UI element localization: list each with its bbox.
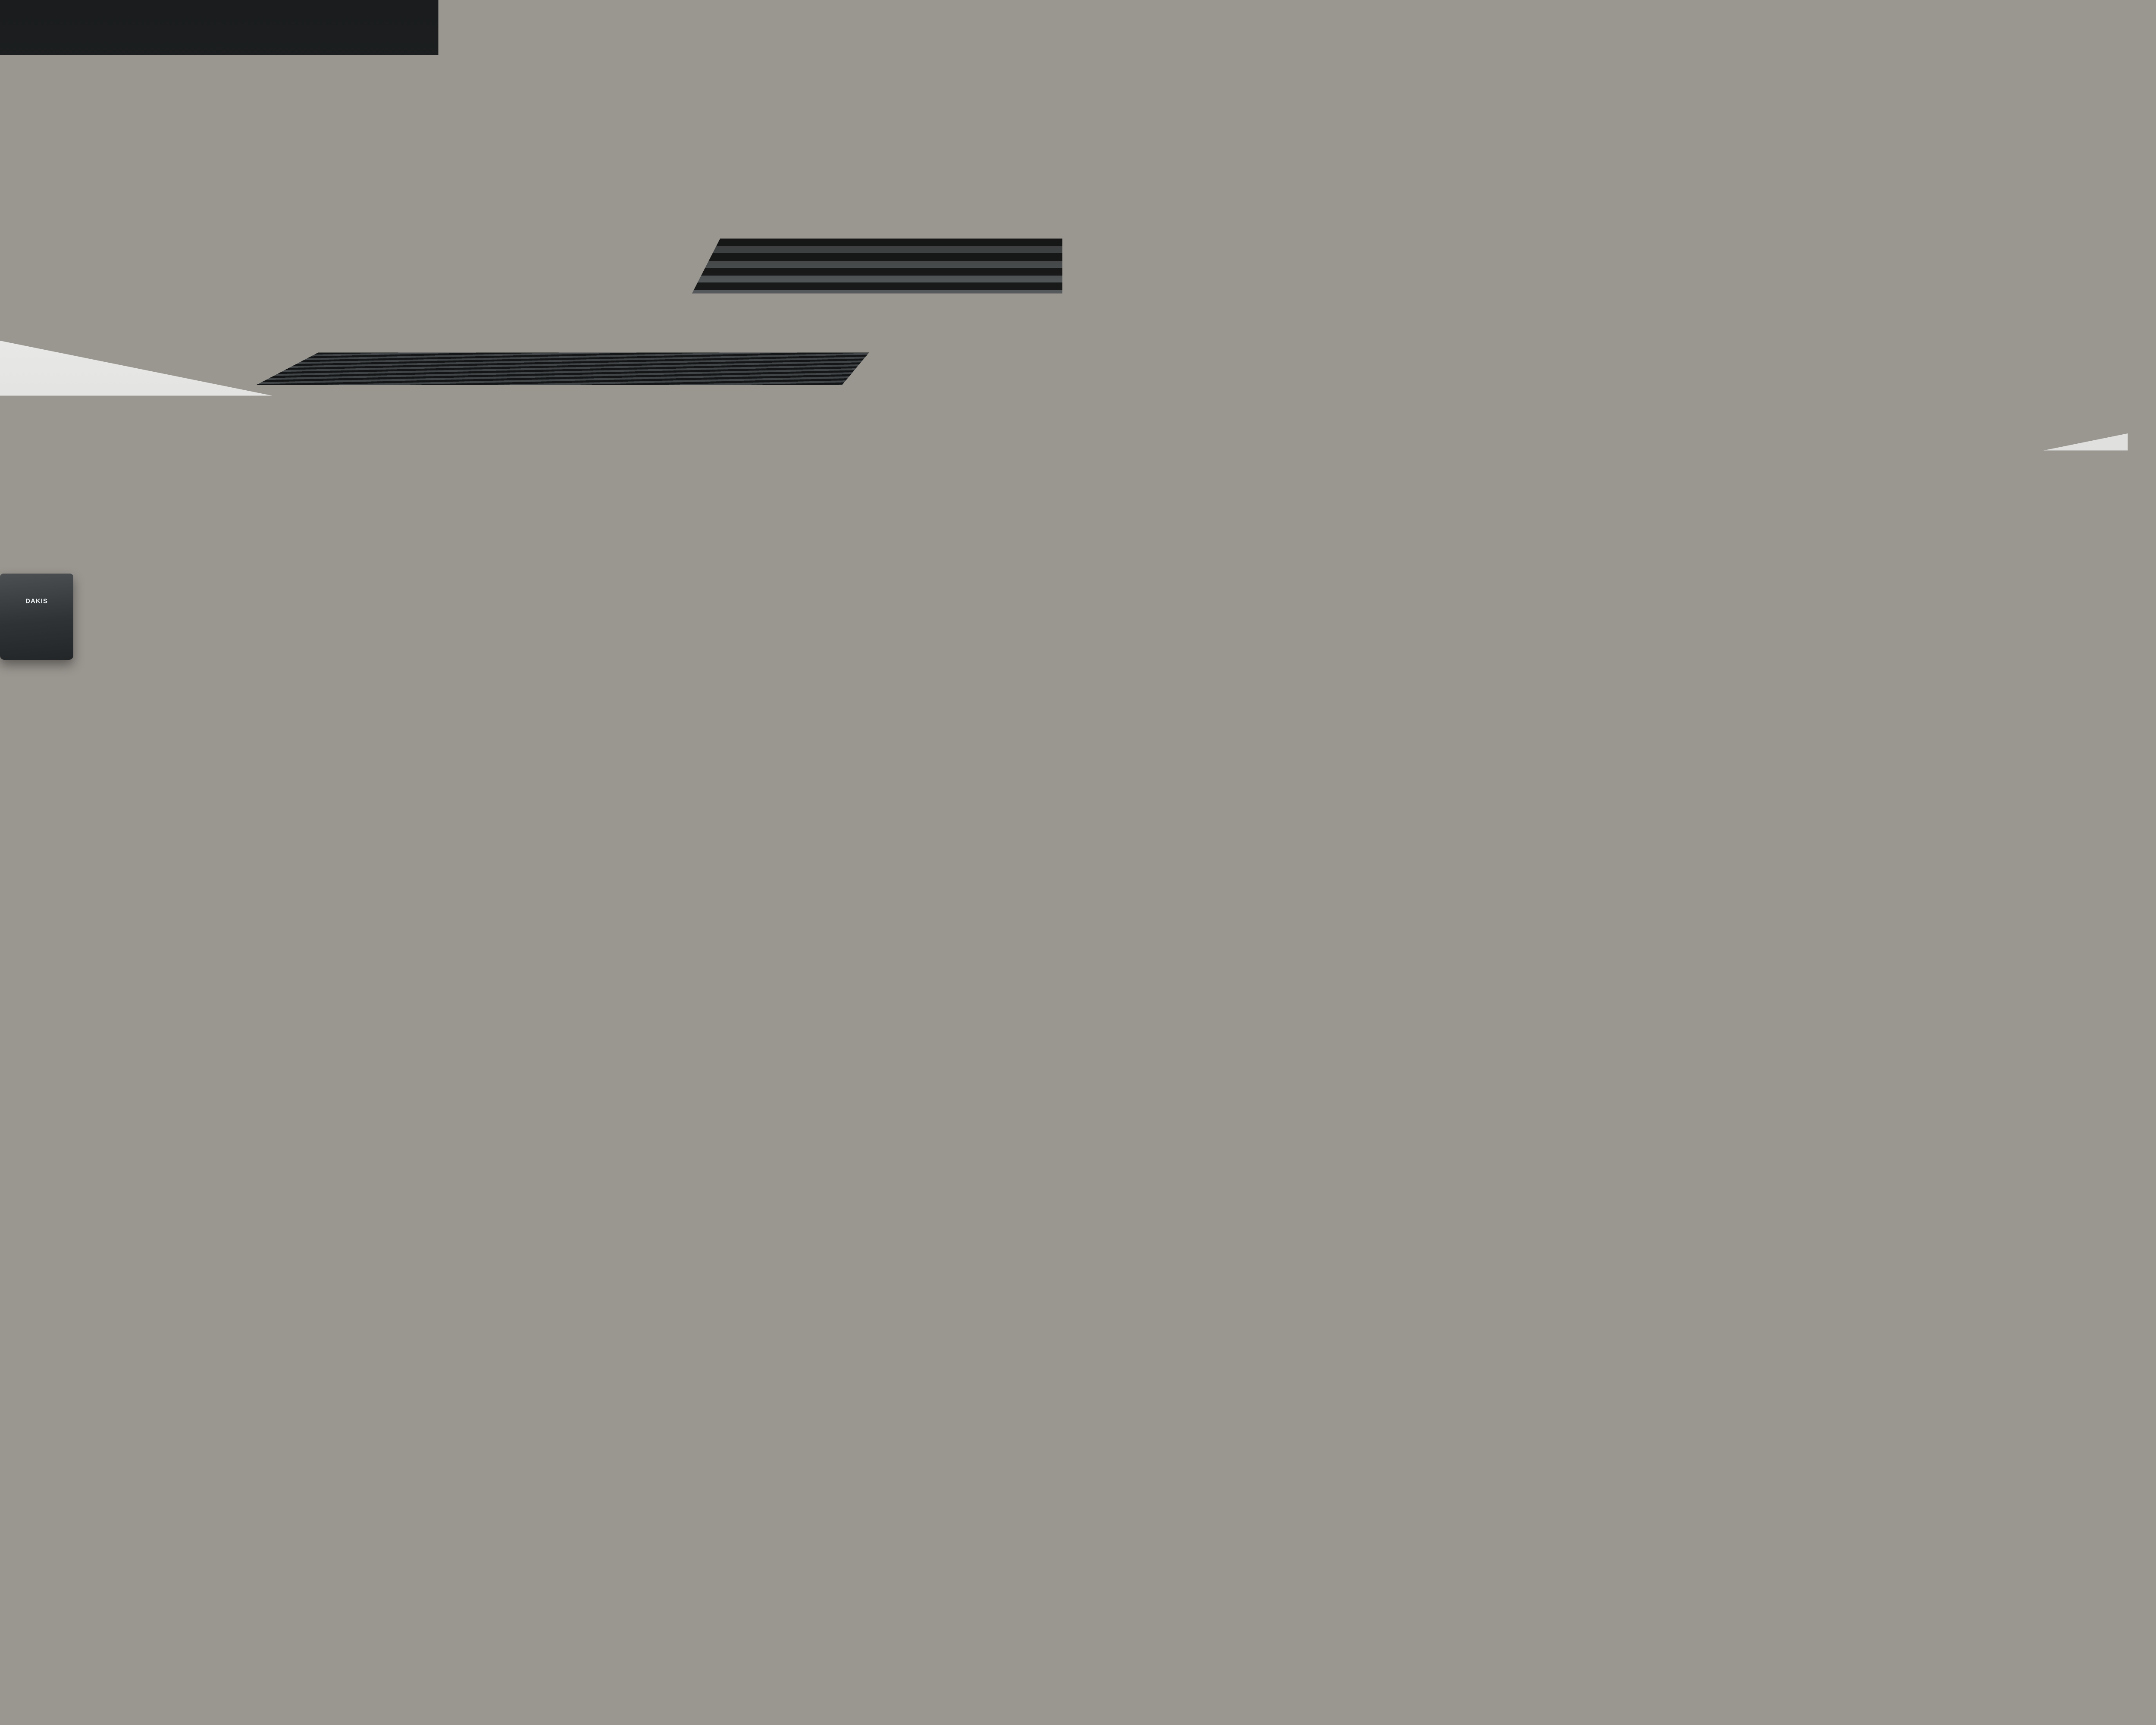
attendee-head xyxy=(479,988,539,1052)
attendee-torso xyxy=(1225,1072,1345,1275)
meeting-chair[interactable] xyxy=(423,1238,612,1548)
clock-number: 6 xyxy=(1695,846,1698,852)
attendee-head xyxy=(1069,1044,1147,1126)
ceiling-recess xyxy=(539,238,2048,592)
meeting-room-photo: 手 机 袋 01 02 03 04 05 06 07 08 09 10 11 1… xyxy=(0,0,2156,1725)
slide-bullet: 主动带教新人，不计较得失； xyxy=(1185,988,1590,1000)
attendee-head xyxy=(1996,1031,2058,1096)
slide-bullet: 更换Base时，能积极而快速的融入； xyxy=(1185,963,1590,975)
slide-bullet: 当销售考核制度发生了短期不利于个人的变化时，勇于接纳； xyxy=(1185,976,1590,988)
attendee-head xyxy=(1884,1104,1958,1181)
checkbox-icon xyxy=(1185,903,1191,910)
clock-number: 9 xyxy=(1677,828,1680,834)
clock-minute-hand xyxy=(1696,817,1708,831)
attendee-head xyxy=(638,992,703,1060)
phone-pocket[interactable]: 03 xyxy=(484,931,498,954)
attendee-head xyxy=(392,975,453,1039)
presenter-head xyxy=(1761,914,1801,962)
wall-speaker-rear-left: DAKIS xyxy=(0,574,73,660)
chair-seat xyxy=(646,1421,816,1490)
ceiling-light-strip xyxy=(638,436,1949,440)
wall-camera-left xyxy=(604,776,630,792)
phone-pocket[interactable]: 09 xyxy=(484,957,498,981)
clock-face: 12 1 2 3 4 5 6 7 8 9 10 11 xyxy=(1673,806,1720,854)
whiteboard-clip xyxy=(1809,915,1833,924)
checkbox-icon xyxy=(1185,928,1191,935)
ceiling-light-strip xyxy=(1018,626,1570,629)
checkbox-icon xyxy=(1185,978,1191,985)
chair-caster xyxy=(2028,1622,2038,1632)
chair-caster xyxy=(432,1535,442,1545)
meeting-chair[interactable] xyxy=(1552,1272,1746,1591)
chair-caster xyxy=(1977,1605,1986,1615)
chair-seat xyxy=(1008,1417,1174,1483)
meeting-chair[interactable] xyxy=(0,1328,190,1647)
attendee-head xyxy=(1488,1005,1548,1069)
plant-pot xyxy=(1190,1264,1281,1371)
window-transom xyxy=(2027,781,2156,787)
presenter-hand xyxy=(1879,1000,1900,1018)
chair-caster xyxy=(1563,1579,1572,1589)
speaker-bracket xyxy=(776,789,793,800)
attendee-torso xyxy=(1621,1100,1729,1281)
slide-bullet: 在无薪酬激励的情况下，主动承担带新任务； xyxy=(1185,926,1590,938)
attendee-head xyxy=(1242,1005,1309,1076)
slide-bullet: 主动开拓新行业、新市场，打造成功案例； xyxy=(1185,951,1590,963)
phone-pocket[interactable]: 10 xyxy=(499,957,513,981)
chair-caster xyxy=(1731,1579,1740,1589)
chair-caster xyxy=(10,1635,20,1645)
attendee-head xyxy=(39,1091,121,1177)
phone-pocket[interactable]: 11 xyxy=(515,957,529,981)
wall-clock: 12 1 2 3 4 5 6 7 8 9 10 11 xyxy=(1669,802,1725,858)
checkbox-icon xyxy=(1185,1003,1191,1010)
slide-title: “投入度”评估素材清单 xyxy=(1148,809,1603,835)
attendee-head xyxy=(1634,1035,1699,1104)
clock-number: 4 xyxy=(1711,836,1714,843)
chair-seat xyxy=(2026,1485,2156,1558)
chair-backrest xyxy=(0,1328,190,1513)
lectern-monitor xyxy=(987,936,1056,977)
checkbox-icon xyxy=(1185,916,1191,922)
speaker-brand-label: DAKIS xyxy=(774,815,796,822)
clock-number: 8 xyxy=(1680,836,1683,843)
phone-pocket[interactable]: 04 xyxy=(499,931,513,954)
attendee-head xyxy=(526,1031,599,1109)
meeting-chair[interactable] xyxy=(1794,1289,1992,1617)
chair-backrest xyxy=(1000,1251,1181,1426)
chair-backrest xyxy=(1384,1207,1565,1383)
phone-bag-title: 手 机 袋 xyxy=(450,914,548,925)
phone-pocket[interactable]: 05 xyxy=(515,931,529,954)
attendee-head xyxy=(763,1057,839,1137)
chair-seat xyxy=(1391,1374,1558,1440)
checkbox-icon xyxy=(1185,941,1191,947)
slide-bullet: 遇到客户调整时，不计较个人消耗和得失，勇于承担； xyxy=(1185,913,1590,925)
ceiling-light-strip xyxy=(733,481,1854,485)
chair-seat xyxy=(1802,1470,1984,1542)
clock-number: 2 xyxy=(1711,819,1714,825)
speaker-brand-label: DAKIS xyxy=(1804,822,1826,830)
meeting-chair[interactable] xyxy=(1000,1251,1181,1552)
chair-caster xyxy=(647,1548,656,1558)
attendee-head xyxy=(164,1031,231,1103)
wall-speaker-front-right: DAKIS xyxy=(1777,803,1853,851)
chair-backrest xyxy=(423,1238,612,1418)
meeting-chair[interactable] xyxy=(2018,1302,2156,1634)
attendee-head xyxy=(1824,1048,1889,1116)
slide-bullet: 组织架构调整时，欣然接受，快速投入，仍能保持工作热情，并乐于帮助他人； xyxy=(1185,864,1590,888)
chair-seat xyxy=(1560,1448,1739,1518)
chair-caster xyxy=(1393,1497,1402,1507)
chair-caster xyxy=(1009,1540,1018,1550)
attendee-torso xyxy=(147,1099,272,1323)
wall-speaker-front-left: DAKIS xyxy=(750,798,819,841)
slide-bullet: 勇于尝试开疆拓土的工作； xyxy=(1185,938,1590,950)
plant-pot xyxy=(888,1587,1018,1725)
phone-pocket[interactable]: 06 xyxy=(530,931,544,954)
ceiling-light-strip xyxy=(819,523,1768,527)
attendee-head xyxy=(793,979,858,1047)
chair-caster xyxy=(1804,1605,1814,1615)
phone-pocket[interactable]: 08 xyxy=(468,957,482,981)
clock-date-window xyxy=(1688,834,1707,842)
checkbox-icon xyxy=(1185,891,1191,897)
handout-paper[interactable] xyxy=(274,1203,398,1272)
clock-number: 10 xyxy=(1678,819,1684,825)
speaker-brand-label: DAKIS xyxy=(25,598,48,605)
chair-caster xyxy=(595,1535,605,1545)
checkbox-icon xyxy=(1185,866,1191,872)
meeting-chair[interactable] xyxy=(638,1251,824,1561)
chair-caster xyxy=(174,1635,184,1645)
chair-seat xyxy=(430,1408,605,1477)
chair-seat xyxy=(8,1504,182,1574)
clock-number: 12 xyxy=(1694,809,1700,816)
clock-number: 11 xyxy=(1685,812,1691,819)
ceiling-camera xyxy=(1354,749,1384,767)
checkbox-icon xyxy=(1185,1028,1191,1035)
ceiling-light-strip xyxy=(535,388,2053,393)
checkbox-icon xyxy=(1185,991,1191,997)
phone-pocket[interactable]: 07 xyxy=(453,957,467,981)
attendee-head xyxy=(2040,1121,2119,1206)
whiteboard-clip xyxy=(1904,915,1928,924)
checkbox-icon xyxy=(1185,1016,1191,1022)
clock-number: 5 xyxy=(1704,843,1707,850)
ceiling-light-strip xyxy=(897,561,1690,564)
chair-caster xyxy=(1166,1540,1175,1550)
red-ribbon-decoration xyxy=(1996,888,2034,922)
phone-pocket[interactable]: 12 xyxy=(530,957,544,981)
sprinkler-head xyxy=(1341,185,1356,197)
checkbox-icon xyxy=(1185,966,1191,972)
slide-bullet: 提成制变成年薪制后，能保持初心，激励自己和他人； xyxy=(1185,888,1590,900)
slide-section-heading: 3、不计较一时得失，与公司长期共同发展。 xyxy=(1185,842,1423,859)
checkbox-icon xyxy=(1185,953,1191,960)
chair-backrest xyxy=(2018,1302,2156,1495)
slide-bullet: 主动选择更难的业务，不求回报。承担更大的责任； xyxy=(1185,901,1590,913)
attendee-head xyxy=(39,1000,108,1075)
chair-backrest xyxy=(1552,1272,1746,1457)
phone-pocket[interactable]: 02 xyxy=(468,931,482,954)
chair-caster xyxy=(807,1548,817,1558)
ceiling-downlight xyxy=(1949,632,1960,638)
clock-number: 3 xyxy=(1713,828,1716,834)
meeting-chair[interactable] xyxy=(1384,1207,1565,1509)
chair-backrest xyxy=(638,1251,824,1431)
speaker-bracket xyxy=(1806,794,1824,806)
attendee-head xyxy=(1896,1022,1943,1074)
clock-number: 7 xyxy=(1686,843,1689,850)
phone-pocket[interactable]: 01 xyxy=(453,931,467,954)
taskbar-window-chip[interactable]: -S8OAGAH xyxy=(1154,1053,1205,1064)
chair-backrest xyxy=(1794,1289,1992,1480)
ceiling-light-strip xyxy=(962,596,1626,599)
